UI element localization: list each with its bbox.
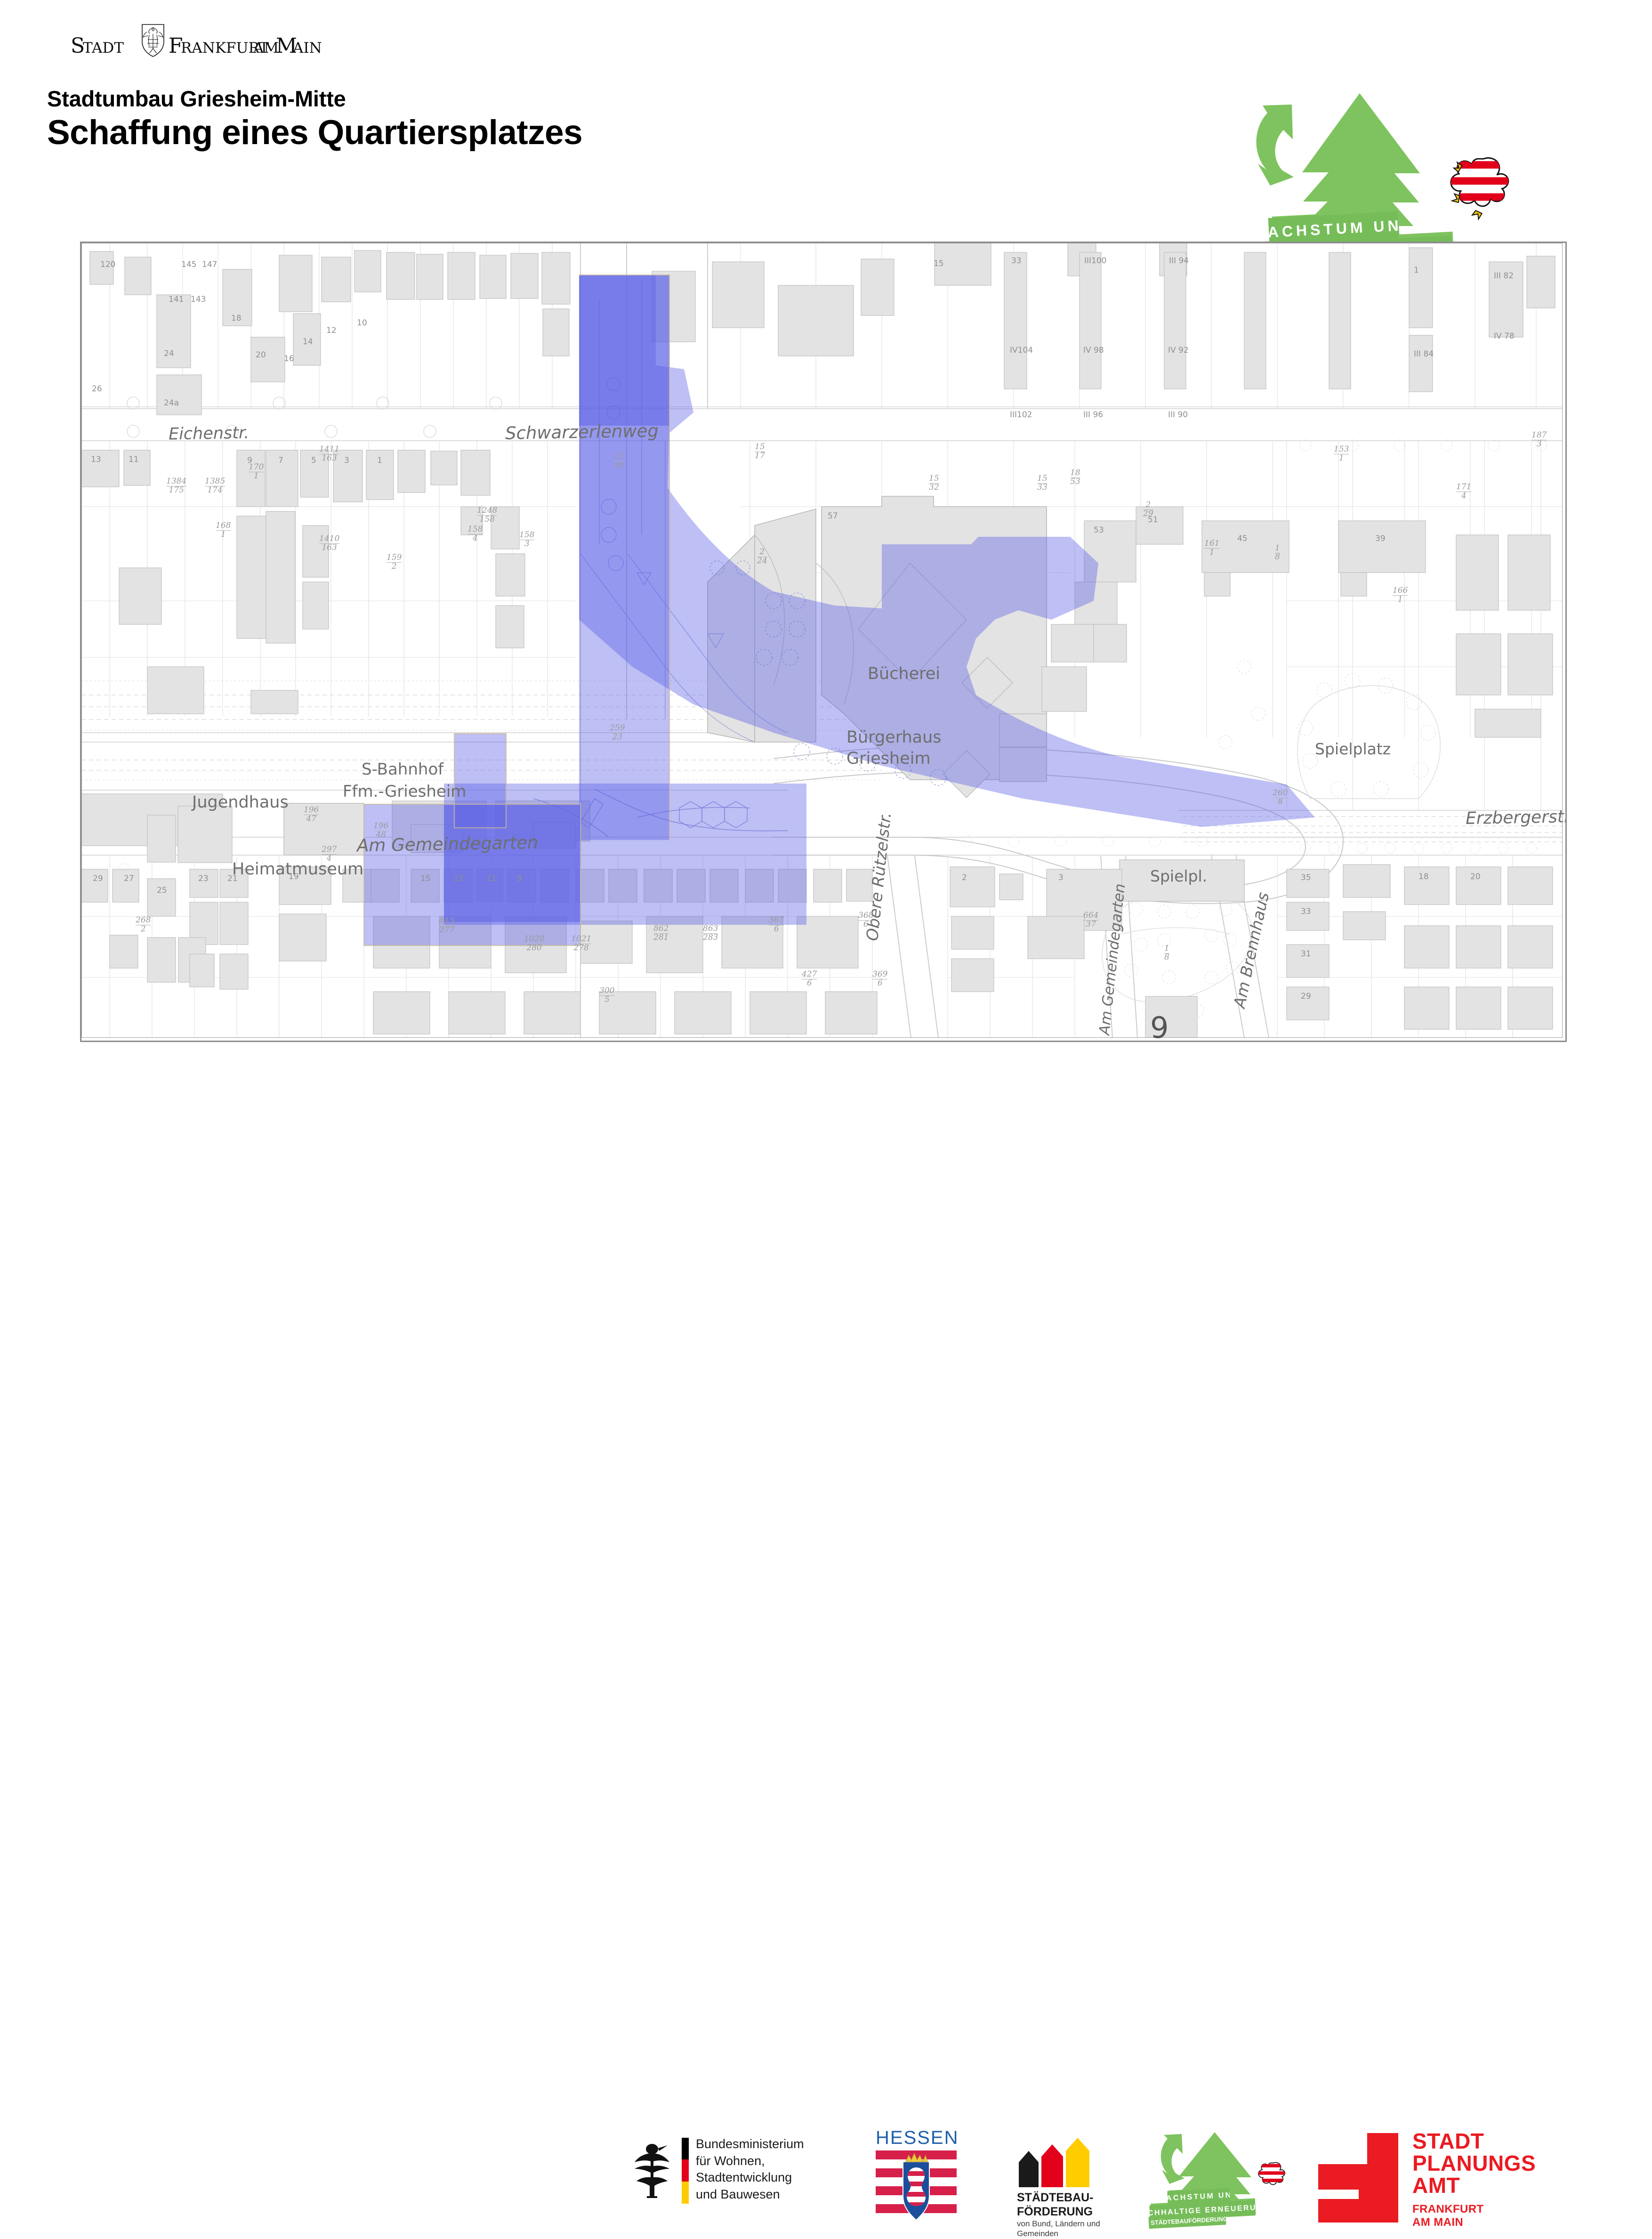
place-label-buecherei: Bücherei [868,664,940,683]
house-number: 16 [284,354,294,364]
parcel-fraction: 66437 [1083,912,1098,929]
house-number: 20 [1470,872,1481,881]
house-number: IV 78 [1494,331,1515,341]
parcel-fraction: 1584 [467,525,483,543]
staedtebau-line1: STÄDTEBAU- [1017,2191,1094,2205]
house-number: IV 92 [1168,346,1189,355]
street-label-eichenstr: Eichenstr. [169,424,250,444]
house-number: IV104 [1010,346,1033,355]
street-label-erzbergerstr: Erzbergerstr. [1466,807,1567,828]
staedtebau-sub2: Gemeinden [1017,2229,1100,2239]
house-number: 18 [231,314,242,323]
parcel-fraction: 19647 [304,806,319,824]
house-number: 39 [1375,534,1386,543]
house-number: 147 [202,260,217,269]
house-number: 145 [181,260,196,269]
house-number: 9 [517,874,522,883]
parcel-fraction: 1384175 [166,477,186,495]
parcel-fraction: 1592 [387,554,402,571]
house-number: 13 [453,874,464,883]
svg-text:AIN: AIN [292,40,322,57]
house-number: III100 [1084,256,1107,266]
staedtebau-wordmark: STÄDTEBAU- FÖRDERUNG [1017,2191,1094,2219]
parcel-fraction: 1021278 [571,935,591,953]
house-number: III 82 [1494,271,1514,281]
house-number: 18 [1418,872,1429,881]
house-number: IV 98 [1083,346,1104,355]
parcel-fraction: 1020280 [524,935,544,953]
program-logo-footer: WACHSTUM UND NACHHALTIGE ERNEUERUNG STÄD… [1149,2132,1304,2222]
staedtebaufoerderung-logo: STÄDTEBAU- FÖRDERUNG von Bund, Ländern u… [1017,2138,1106,2190]
house-number: 29 [93,874,103,883]
house-number: 7 [278,456,283,465]
parcel-fraction: 1873 [1531,431,1547,449]
parcel-fraction: 1517 [755,443,765,461]
staedtebau-line2: FÖRDERUNG [1017,2205,1094,2219]
spa-line3: AMT [1412,2174,1536,2197]
house-number: 19 [289,872,299,881]
parcel-fraction: 4276 [802,970,817,988]
funding-logo-bar: Bundesministerium für Wohnen, Stadtentwi… [0,1059,1652,1168]
parcel-fraction: 1611 [1204,540,1219,557]
house-number: 24 [164,349,174,358]
bmwsb-line1: Bundesministerium [696,2136,804,2153]
parcel-fraction: 3686 [858,912,873,929]
house-number: 25 [157,886,167,895]
parcel-fraction: 25923 [610,724,625,742]
house-number: 12 [326,326,337,335]
spa-line2: PLANUNGS [1412,2152,1536,2174]
map-canvas: Eichenstr. Schwarzerlenweg Am Gemeindega… [81,243,1565,1041]
place-label-spielplatz: Spielplatz [1315,740,1391,758]
parcel-fraction: 1248158 [477,507,497,524]
parcel-fraction: 1385174 [205,477,225,495]
parcel-fraction: 2682 [136,916,151,934]
house-number: 141 [169,295,184,304]
house-number: 31 [1301,949,1311,959]
place-label-spielpl: Spielpl. [1150,867,1207,885]
house-number: 26 [92,384,102,394]
parcel-fraction: 1410163 [319,535,339,552]
three-houses-icon [1017,2138,1106,2187]
house-number: 21 [227,874,238,883]
parcel-fraction: 229 [1143,501,1153,518]
parcel-fraction: 19648 [373,822,388,840]
house-number: 1 [1414,266,1419,275]
spa-line4: FRANKFURT AM MAIN [1412,2203,1484,2229]
place-label-griesheim: Griesheim [846,749,931,768]
house-number: 143 [191,295,206,304]
house-number: 33 [1011,256,1022,266]
parcel-fraction: 863283 [703,925,718,942]
german-flag-bar [682,2138,689,2204]
house-number: III 96 [1083,410,1103,420]
poster-subtitle: Stadtumbau Griesheim-Mitte [47,86,346,112]
bundesadler-icon [626,2138,678,2199]
svg-text:TADT: TADT [83,40,124,57]
stadt-frankfurt-logo: S TADT F RANKFURT AM M AIN [71,24,372,57]
poster-title: Schaffung eines Quartiersplatzes [47,113,582,152]
parcel-fraction: 224 [757,548,767,566]
stadtplanungsamt-logo: STADT PLANUNGS AMT FRANKFURT AM MAIN [1318,2133,1398,2225]
house-number: 24a [164,398,179,408]
parcel-fraction: 1530 [613,453,624,470]
parcel-fraction: 1681 [216,522,231,539]
house-number: 29 [1301,992,1311,1001]
house-number: 33 [1301,907,1311,916]
parcel-fraction: 815277 [439,917,454,935]
staedtebau-sub1: von Bund, Ländern und [1017,2219,1100,2229]
place-label-jugendhaus: Jugendhaus [192,793,289,812]
house-number: 120 [100,260,115,269]
house-number: 3 [1058,873,1064,882]
bmwsb-logo: Bundesministerium für Wohnen, Stadtentwi… [626,2138,678,2201]
house-number: III 94 [1169,256,1189,266]
parcel-fraction: 1853 [1070,469,1080,486]
house-number: 1 [377,456,382,465]
house-number: 23 [198,874,209,883]
parcel-fraction: 2608 [1273,789,1288,807]
parcel-fraction: 1531 [1334,445,1349,463]
hessen-coat-of-arms-icon [876,2150,957,2222]
parcel-fraction: 18 [1275,544,1280,562]
parcel-fraction: 1701 [249,463,264,481]
house-number: 57 [828,511,838,521]
house-number: 14 [303,337,313,347]
house-number: 27 [124,874,134,883]
place-label-ffm-griesheim: Ffm.-Griesheim [343,782,466,801]
parcel-fraction: 3696 [872,970,887,988]
parcel-fraction: 3676 [769,916,784,934]
poster-page: S TADT F RANKFURT AM M AIN Stadtumbau Gr… [0,0,1652,1168]
map-marker-nine: 9 [1150,1010,1168,1042]
house-number: 5 [311,456,316,465]
house-number: 10 [357,318,367,328]
bmwsb-line3: und Bauwesen [696,2186,804,2203]
cadastral-map[interactable]: Eichenstr. Schwarzerlenweg Am Gemeindega… [80,242,1567,1042]
parcel-fraction: 2974 [322,846,337,863]
parcel-fraction: 1583 [519,531,534,549]
parcel-fraction: 1533 [1037,475,1048,492]
house-number: 53 [1094,525,1104,535]
project-area-highlight [81,243,1563,1038]
house-number: 2 [962,873,967,882]
street-label-schwarzerlenweg: Schwarzerlenweg [505,420,659,444]
bmwsb-line2: für Wohnen, Stadtentwicklung [696,2153,804,2186]
svg-text:AM: AM [253,40,279,57]
bmwsb-wordmark: Bundesministerium für Wohnen, Stadtentwi… [696,2136,804,2203]
house-number: 35 [1301,873,1311,882]
house-number: 11 [486,874,497,883]
parcel-fraction: 1532 [929,475,939,492]
place-label-s-bahnhof: S-Bahnhof [362,760,443,779]
parcel-fraction: 862281 [653,925,669,942]
house-number: III102 [1010,410,1032,420]
parcel-fraction: 18 [1164,945,1169,962]
hessen-logo: HESSEN [876,2127,959,2222]
parcel-fraction: 1714 [1456,483,1471,501]
house-number: III 84 [1414,349,1434,359]
parcel-fraction: 1661 [1393,587,1408,604]
stadtplanungsamt-wordmark: STADT PLANUNGS AMT [1412,2130,1536,2197]
parcel-fraction: 3005 [599,987,614,1004]
house-number: 15 [420,874,431,883]
stadtplanungsamt-mark-icon [1318,2133,1398,2223]
staedtebau-subline: von Bund, Ländern und Gemeinden [1017,2219,1100,2239]
house-number: 13 [91,455,101,464]
house-number: 20 [256,350,266,360]
spa-line1: STADT [1412,2130,1536,2152]
parcel-fraction: 1411163 [319,445,339,463]
house-number: III 90 [1168,410,1188,420]
house-number: 11 [129,455,139,464]
place-label-buergerhaus: Bürgerhaus [846,728,942,747]
hessen-wordmark: HESSEN [876,2127,959,2149]
house-number: 45 [1237,534,1248,543]
house-number: 3 [344,456,349,465]
house-number: 15 [934,259,944,268]
